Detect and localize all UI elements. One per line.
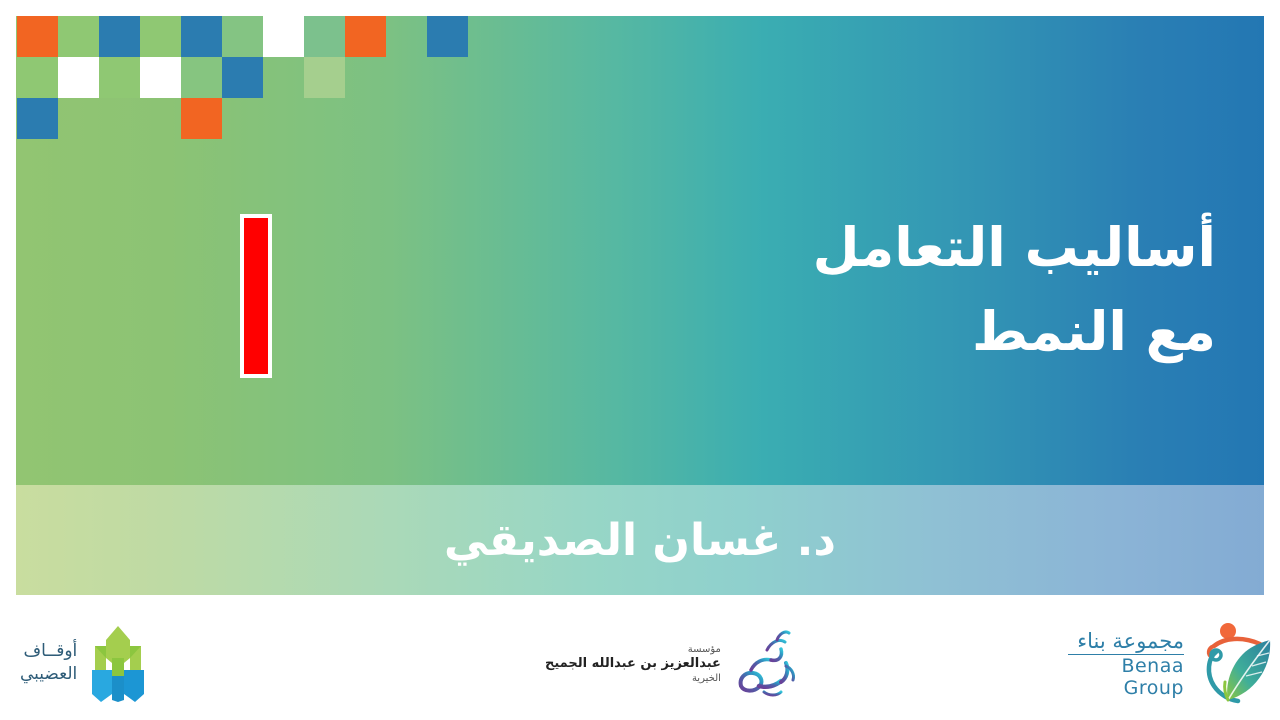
speaker-name-band: د. غسان الصديقي: [16, 485, 1264, 595]
mosaic-cell: [181, 57, 222, 98]
awqaf-line-1: أوقــاف: [20, 640, 77, 663]
title-line-2: مع النمط: [656, 290, 1216, 374]
wheat-sheaf-icon: [87, 624, 149, 702]
page-title: أساليب التعامل مع النمط: [656, 206, 1216, 373]
awqaf-line-2: العضيبي: [20, 663, 77, 686]
red-highlight-rectangle: [240, 214, 272, 378]
benaa-line-english: Benaa Group: [1068, 655, 1184, 700]
leaf-figure-icon: [1194, 622, 1280, 706]
logo-awqaf-alodaibi: أوقــاف العضيبي: [20, 624, 149, 702]
mosaic-cell: [222, 57, 263, 98]
arabic-calligraphy-icon: [731, 626, 801, 702]
mosaic-cell: [140, 57, 181, 98]
presentation-slide: أساليب التعامل مع النمط د. غسان الصديقي …: [0, 0, 1280, 720]
mosaic-decoration: [16, 16, 486, 146]
mosaic-cell: [427, 16, 468, 57]
mosaic-cell: [181, 16, 222, 57]
mosaic-cell: [345, 16, 386, 57]
jumaih-logo-text: مؤسسة عبدالعزيز بن عبدالله الجميح الخيري…: [545, 643, 721, 686]
mosaic-cell: [17, 57, 58, 98]
jumaih-line-3: الخيرية: [545, 672, 721, 685]
mosaic-cell: [140, 16, 181, 57]
mosaic-cell: [181, 98, 222, 139]
jumaih-line-1: مؤسسة: [545, 643, 721, 656]
benaa-line-arabic: مجموعة بناء: [1068, 629, 1184, 655]
logo-aljumaih-foundation: مؤسسة عبدالعزيز بن عبدالله الجميح الخيري…: [545, 626, 801, 702]
footer-logo-bar: أوقــاف العضيبي: [0, 600, 1280, 720]
mosaic-cell: [304, 16, 345, 57]
mosaic-cell: [263, 16, 304, 57]
mosaic-cell: [58, 16, 99, 57]
mosaic-cell: [222, 16, 263, 57]
mosaic-cell: [99, 57, 140, 98]
mosaic-cell: [99, 16, 140, 57]
awqaf-logo-text: أوقــاف العضيبي: [20, 640, 77, 686]
jumaih-line-2: عبدالعزيز بن عبدالله الجميح: [545, 656, 721, 673]
title-line-1: أساليب التعامل: [656, 206, 1216, 290]
mosaic-cell: [58, 57, 99, 98]
mosaic-cell: [17, 16, 58, 57]
benaa-logo-text: مجموعة بناء Benaa Group: [1068, 629, 1184, 700]
logo-benaa-group: مجموعة بناء Benaa Group: [1068, 622, 1280, 706]
hero-gradient-panel: أساليب التعامل مع النمط: [16, 16, 1264, 485]
mosaic-cell: [17, 98, 58, 139]
mosaic-cell: [304, 57, 345, 98]
speaker-name: د. غسان الصديقي: [444, 515, 836, 566]
